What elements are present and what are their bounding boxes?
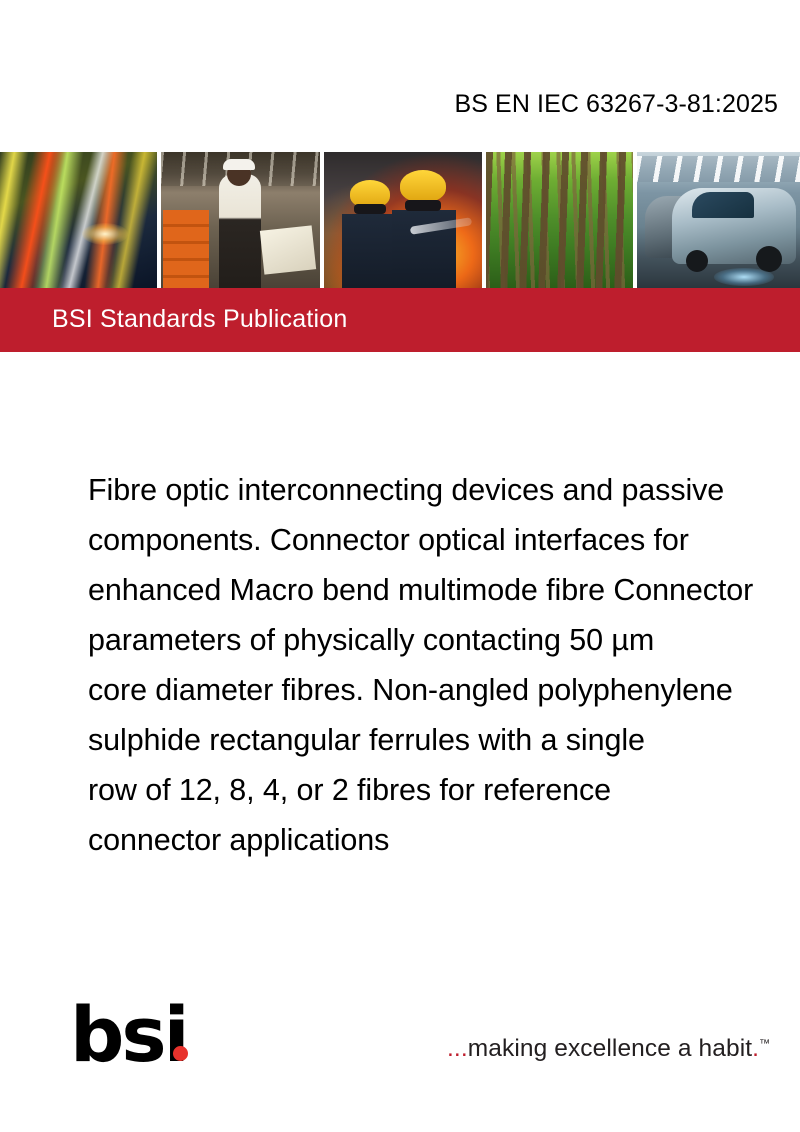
- standard-reference-number: BS EN IEC 63267-3-81:2025: [454, 90, 778, 119]
- photo-panel-night-traffic-light-trails: [0, 152, 157, 288]
- banner-label: BSI Standards Publication: [52, 305, 347, 334]
- bsi-standards-banner: BSI Standards Publication: [0, 288, 800, 352]
- title-line: core diameter fibres. Non-angled polyphe…: [88, 665, 800, 715]
- title-line: enhanced Macro bend multimode fibre Conn…: [88, 565, 800, 615]
- photo-panel-pine-forest: [486, 152, 633, 288]
- car-rear-wheel: [686, 250, 708, 272]
- title-line: connector applications: [88, 815, 800, 865]
- car-headlight-glow: [714, 268, 774, 286]
- warehouse-worker-body: [219, 174, 261, 288]
- title-line: row of 12, 8, 4, or 2 fibres for referen…: [88, 765, 800, 815]
- firefighter-visor-rear: [354, 204, 386, 214]
- warehouse-crate: [163, 210, 209, 288]
- photo-panel-warehouse-worker: [161, 152, 320, 288]
- warehouse-worker-cap: [223, 159, 255, 170]
- title-line: sulphide rectangular ferrules with a sin…: [88, 715, 800, 765]
- tagline-ellipsis: ...: [447, 1035, 468, 1062]
- title-line: parameters of physically contacting 50 µ…: [88, 615, 800, 665]
- factory-ceiling-lights: [637, 156, 800, 182]
- firefighter-helmet-front: [400, 170, 446, 202]
- bsi-tagline: ...making excellence a habit.™: [447, 1035, 770, 1063]
- photo-panel-car-assembly-line: [637, 152, 800, 288]
- photo-strip: [0, 152, 800, 288]
- title-line: Fibre optic interconnecting devices and …: [88, 465, 800, 515]
- publication-title: Fibre optic interconnecting devices and …: [88, 465, 800, 865]
- trademark-icon: ™: [759, 1038, 770, 1050]
- tagline-text: making excellence a habit: [468, 1035, 752, 1062]
- car-windshield: [692, 192, 754, 218]
- firefighter-torso-rear: [342, 214, 398, 288]
- warehouse-box: [260, 225, 316, 274]
- title-line: components. Connector optical interfaces…: [88, 515, 800, 565]
- photo-panel-firefighters: [324, 152, 481, 288]
- firefighter-visor-front: [405, 200, 441, 211]
- bsi-logo-dot-icon: [173, 1046, 188, 1061]
- car-front-wheel: [756, 246, 782, 272]
- bsi-logo: bsi: [70, 999, 200, 1071]
